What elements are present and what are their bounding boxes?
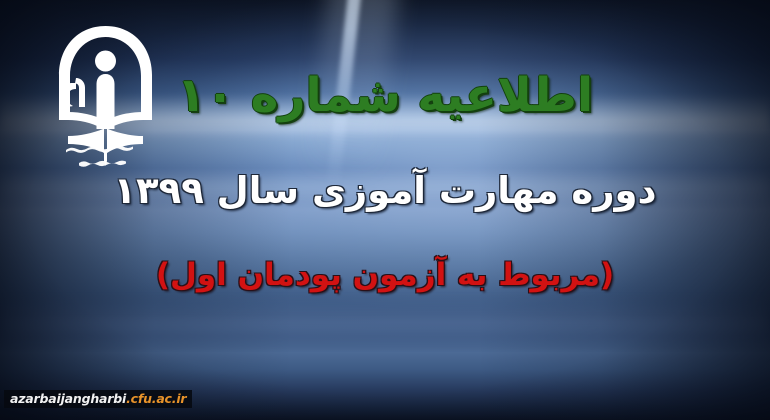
headline-line-3: (مربوط به آزمون پودمان اول) bbox=[0, 260, 770, 291]
headline-block: اطلاعیه شماره ۱۰ دوره مهارت آموزی سال ۱۳… bbox=[0, 0, 770, 420]
watermark-site-domain: .cfu.ac.ir bbox=[126, 391, 186, 406]
headline-line-2: دوره مهارت آموزی سال ۱۳۹۹ bbox=[0, 172, 770, 209]
announcement-banner: اطلاعیه شماره ۱۰ دوره مهارت آموزی سال ۱۳… bbox=[0, 0, 770, 420]
watermark-site-name: azarbaijangharbi bbox=[10, 391, 126, 406]
headline-line-1: اطلاعیه شماره ۱۰ bbox=[0, 72, 770, 119]
site-watermark: azarbaijangharbi.cfu.ac.ir bbox=[4, 390, 192, 408]
